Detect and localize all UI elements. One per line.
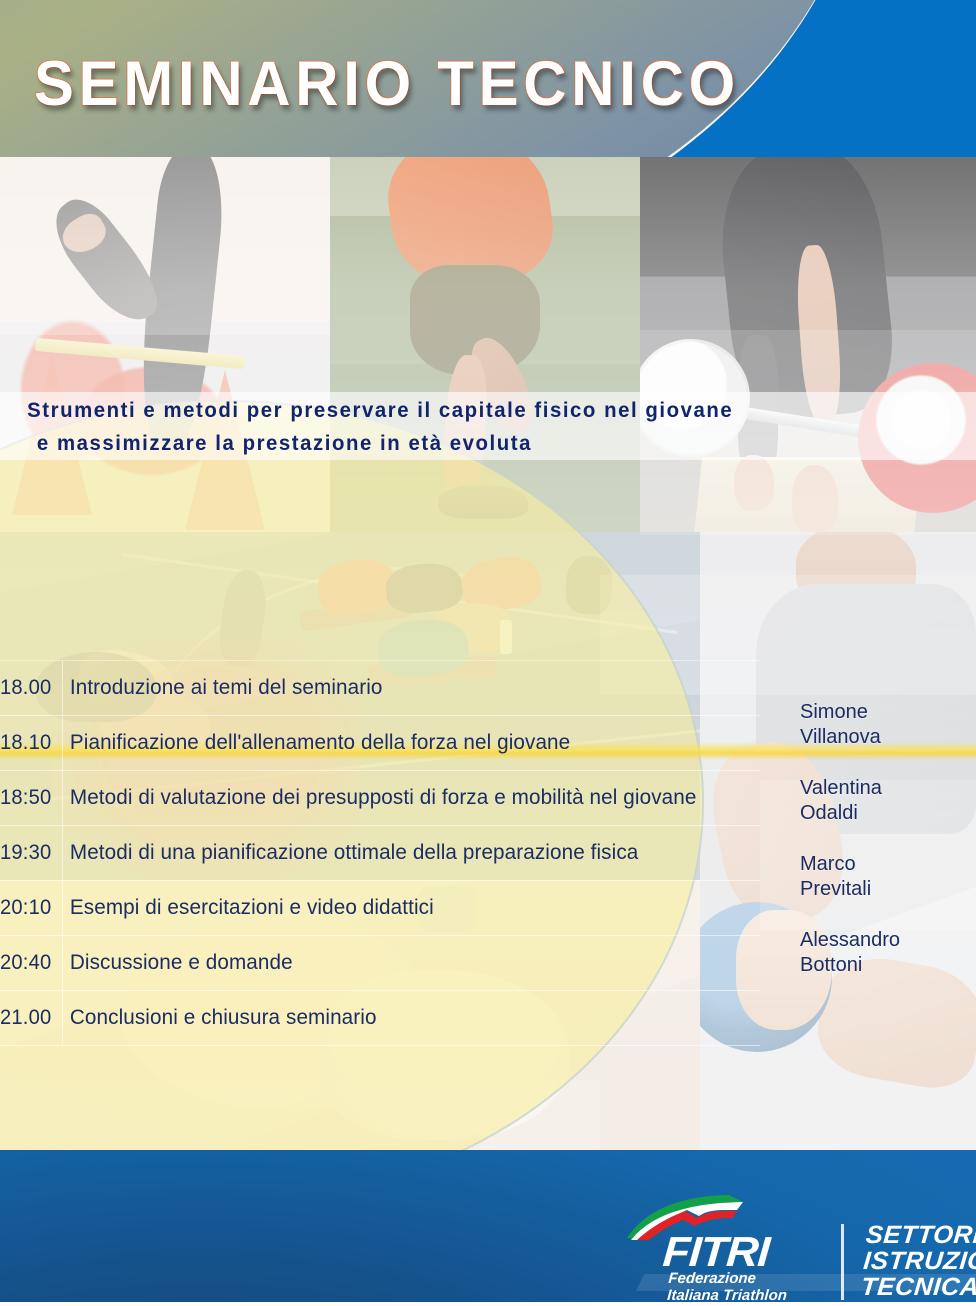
subtitle-line-2: e massimizzare la prestazione in età evo…	[27, 427, 947, 460]
fitri-federation-line-2: Italiana Triathlon	[667, 1287, 788, 1304]
footer-hairline	[0, 1302, 976, 1306]
stretching-athlete-9	[564, 554, 614, 615]
table-row: 18.00 Introduzione ai temi del seminario	[0, 660, 760, 716]
table-row: 19:30 Metodi di una pianificazione ottim…	[0, 826, 760, 881]
poster-subtitle: Strumenti e metodi per preservare il cap…	[0, 394, 947, 460]
photo-hurdle-drill	[0, 155, 330, 535]
water-bottle-shape	[500, 620, 512, 654]
list-item: Marco Previtali	[800, 852, 976, 902]
page-title: SEMINARIO TECNICO	[34, 48, 740, 120]
schedule-description: Introduzione ai temi del seminario	[62, 676, 383, 700]
subtitle-line-1: Strumenti e metodi per preservare il cap…	[27, 399, 733, 422]
schedule-time: 19:30	[0, 841, 60, 865]
table-row: 20:10 Esempi di esercitazioni e video di…	[0, 881, 760, 936]
speakers-list: Simone Villanova Valentina Odaldi Marco …	[800, 700, 976, 1004]
poster-header: SEMINARIO TECNICO	[0, 0, 976, 157]
list-item: Simone Villanova	[800, 700, 976, 750]
fitri-acronym: FITRI	[661, 1228, 771, 1276]
speaker-first-name: Marco	[800, 852, 976, 877]
speaker-last-name: Bottoni	[800, 953, 976, 978]
speaker-last-name: Villanova	[800, 725, 976, 750]
lifter-foot-left-shape	[734, 455, 774, 511]
schedule-description: Discussione e domande	[62, 951, 293, 975]
schedule-description: Pianificazione dell'allenamento della fo…	[62, 731, 570, 755]
schedule-time: 18.10	[0, 731, 60, 755]
speaker-first-name: Valentina	[800, 776, 976, 801]
schedule-table: 18.00 Introduzione ai temi del seminario…	[0, 660, 760, 1046]
speaker-last-name: Previtali	[800, 877, 976, 902]
department-line-3: TECNICA	[860, 1274, 976, 1300]
list-item: Valentina Odaldi	[800, 776, 976, 826]
schedule-time: 18.00	[0, 676, 60, 700]
speaker-last-name: Odaldi	[800, 801, 976, 826]
schedule-description: Metodi di valutazione dei presupposti di…	[62, 786, 696, 810]
table-row: 20:40 Discussione e domande	[0, 936, 760, 991]
seminar-poster: SEMINARIO TECNICO Strumenti e metodi per…	[0, 0, 976, 1306]
schedule-description: Metodi di una pianificazione ottimale de…	[62, 841, 638, 865]
schedule-time: 20:10	[0, 896, 60, 920]
list-item: Alessandro Bottoni	[800, 928, 976, 978]
department-line-2: ISTRUZIONE	[862, 1248, 976, 1274]
runner-shoe-shape	[438, 485, 528, 519]
schedule-time: 20:40	[0, 951, 60, 975]
logo-divider	[841, 1224, 844, 1300]
department-line-1: SETTORE	[865, 1222, 976, 1248]
photo-deadlift	[640, 155, 976, 535]
schedule-time: 21.00	[0, 1006, 60, 1030]
table-row: 21.00 Conclusioni e chiusura seminario	[0, 991, 760, 1046]
fitri-logo: FITRI Federazione Italiana Triathlon SET…	[625, 1196, 976, 1302]
table-row: 18:50 Metodi di valutazione dei presuppo…	[0, 771, 760, 826]
fitri-federation-name: Federazione Italiana Triathlon	[667, 1270, 789, 1304]
photo-outdoor-runner	[330, 155, 640, 535]
speaker-first-name: Simone	[800, 700, 976, 725]
schedule-time: 18:50	[0, 786, 60, 810]
department-name: SETTORE ISTRUZIONE TECNICA	[860, 1222, 976, 1300]
lifter-foot-right-shape	[792, 465, 838, 535]
table-row: 18.10 Pianificazione dell'allenamento de…	[0, 716, 760, 771]
schedule-description: Esempi di esercitazioni e video didattic…	[62, 896, 434, 920]
speaker-first-name: Alessandro	[800, 928, 976, 953]
photo-collage	[0, 0, 976, 1306]
schedule-description: Conclusioni e chiusura seminario	[62, 1006, 377, 1030]
fitri-federation-line-1: Federazione	[668, 1270, 789, 1287]
